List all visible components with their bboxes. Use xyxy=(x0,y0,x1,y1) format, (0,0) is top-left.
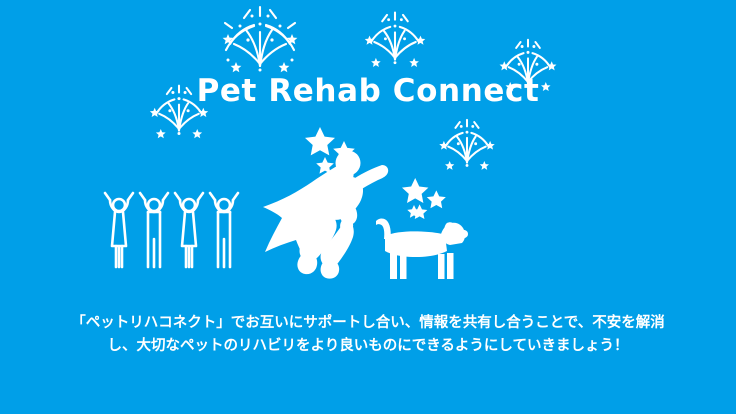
slide-canvas: Pet Rehab Connect xyxy=(0,0,736,414)
superhero-with-cape-icon xyxy=(250,140,390,280)
four-cheering-people-icon xyxy=(104,192,240,272)
firework-icon xyxy=(428,116,506,170)
caption-text: 「ペットリハコネクト」でお互いにサポートし合い、情報を共有し合うことで、不安を解… xyxy=(68,312,668,359)
dog-icon xyxy=(372,212,468,280)
caption-line-1: 「ペットリハコネクト」でお互いにサポートし合い、情報を共有し合うことで、不安を解… xyxy=(68,312,668,335)
caption-line-2: し、大切なペットのリハビリをより良いものにできるようにしていきましょう！ xyxy=(68,335,668,358)
firework-icon xyxy=(352,10,438,66)
firework-icon xyxy=(206,4,314,74)
page-title: Pet Rehab Connect xyxy=(0,76,736,107)
